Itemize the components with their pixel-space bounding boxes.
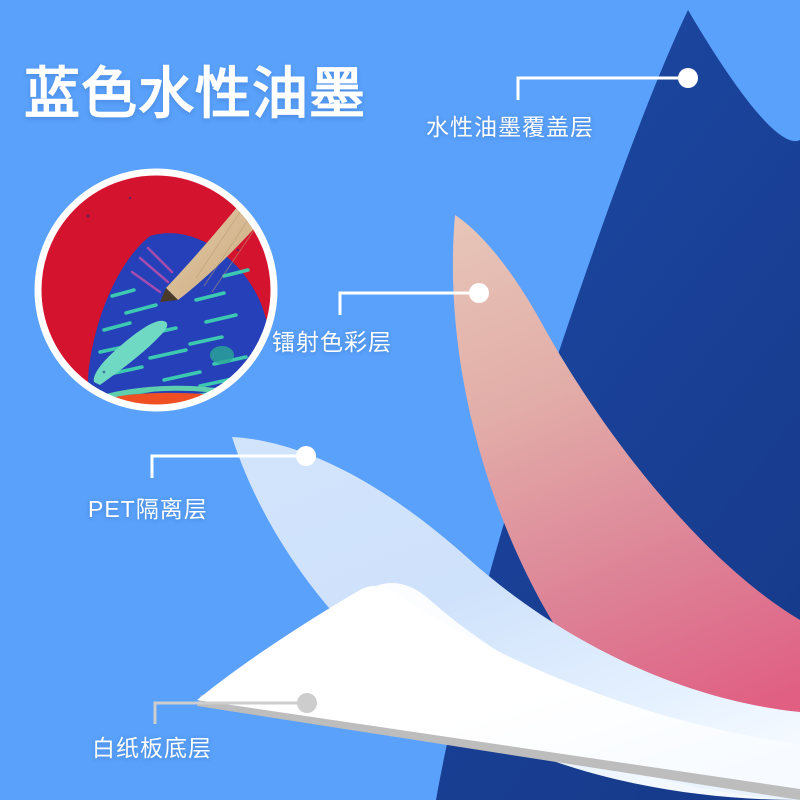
callout-label-white-board: 白纸板底层 (92, 729, 212, 763)
product-layer-infographic: 蓝色水性油墨 水性油墨覆盖层 镭射色彩层 PET隔离层 白纸板底层 (0, 0, 800, 800)
scratch-paper-photo (38, 160, 296, 430)
callout-label-ink-cover: 水性油墨覆盖层 (426, 108, 594, 142)
callout-label-pet-release: PET隔离层 (88, 490, 208, 524)
page-title: 蓝色水性油墨 (24, 66, 366, 122)
callout-label-laser-color: 镭射色彩层 (272, 323, 392, 357)
